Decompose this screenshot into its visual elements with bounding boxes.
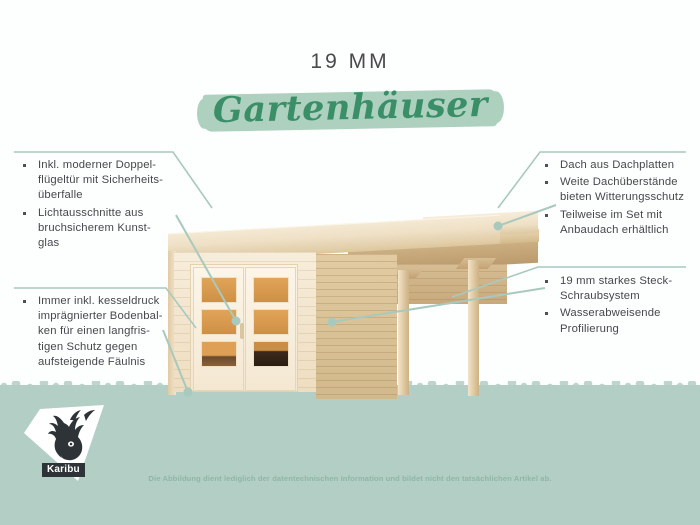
glass-pane <box>253 309 289 335</box>
feature-block-top-left: Inkl. moderner Doppel- flügeltür mit Sic… <box>22 158 172 253</box>
page-title: Gartenhäuser <box>0 84 700 136</box>
door-leaf-left <box>193 267 244 391</box>
brand-logo: Karibu <box>20 403 108 483</box>
carport-post-left <box>398 270 409 395</box>
list-item: Wasserabweisende Profilierung <box>544 306 700 336</box>
list-item: Weite Dachüberstände bieten Witterungssc… <box>544 175 700 205</box>
feature-block-bottom-left: Immer inkl. kesseldruck imprägnierter Bo… <box>22 294 172 372</box>
list-item: Immer inkl. kesseldruck imprägnierter Bo… <box>22 294 172 370</box>
glass-pane <box>201 309 237 335</box>
feature-list: Dach aus Dachplatten Weite Dachüberständ… <box>544 158 700 238</box>
brand-name: Karibu <box>42 463 85 477</box>
feature-block-bottom-right: 19 mm starkes Steck- Schraubsystem Wasse… <box>544 274 700 339</box>
feature-list: Immer inkl. kesseldruck imprägnierter Bo… <box>22 294 172 370</box>
list-item: Lichtausschnitte aus bruchsicherem Kunst… <box>22 206 172 252</box>
feature-list: 19 mm starkes Steck- Schraubsystem Wasse… <box>544 274 700 337</box>
thickness-label: 19 MM <box>0 50 700 74</box>
glass-pane <box>253 341 289 367</box>
list-item: Inkl. moderner Doppel- flügeltür mit Sic… <box>22 158 172 204</box>
list-item: 19 mm starkes Steck- Schraubsystem <box>544 274 700 304</box>
product-infographic: 19 MM Gartenhäuser <box>0 0 700 525</box>
title-text: Gartenhäuser <box>212 81 488 135</box>
garden-house-illustration <box>168 214 538 396</box>
door-frame <box>190 264 298 392</box>
door-handle <box>240 323 244 339</box>
glass-pane <box>201 341 237 367</box>
feature-block-top-right: Dach aus Dachplatten Weite Dachüberständ… <box>544 158 700 240</box>
feature-list: Inkl. moderner Doppel- flügeltür mit Sic… <box>22 158 172 251</box>
glass-pane <box>201 277 237 303</box>
list-item: Teilweise im Set mit Anbaudach erhältlic… <box>544 208 700 238</box>
list-item: Dach aus Dachplatten <box>544 158 700 173</box>
carport-post-right <box>468 260 479 396</box>
glass-pane <box>253 277 289 303</box>
side-wall <box>316 254 397 399</box>
door-leaf-right <box>245 267 296 391</box>
